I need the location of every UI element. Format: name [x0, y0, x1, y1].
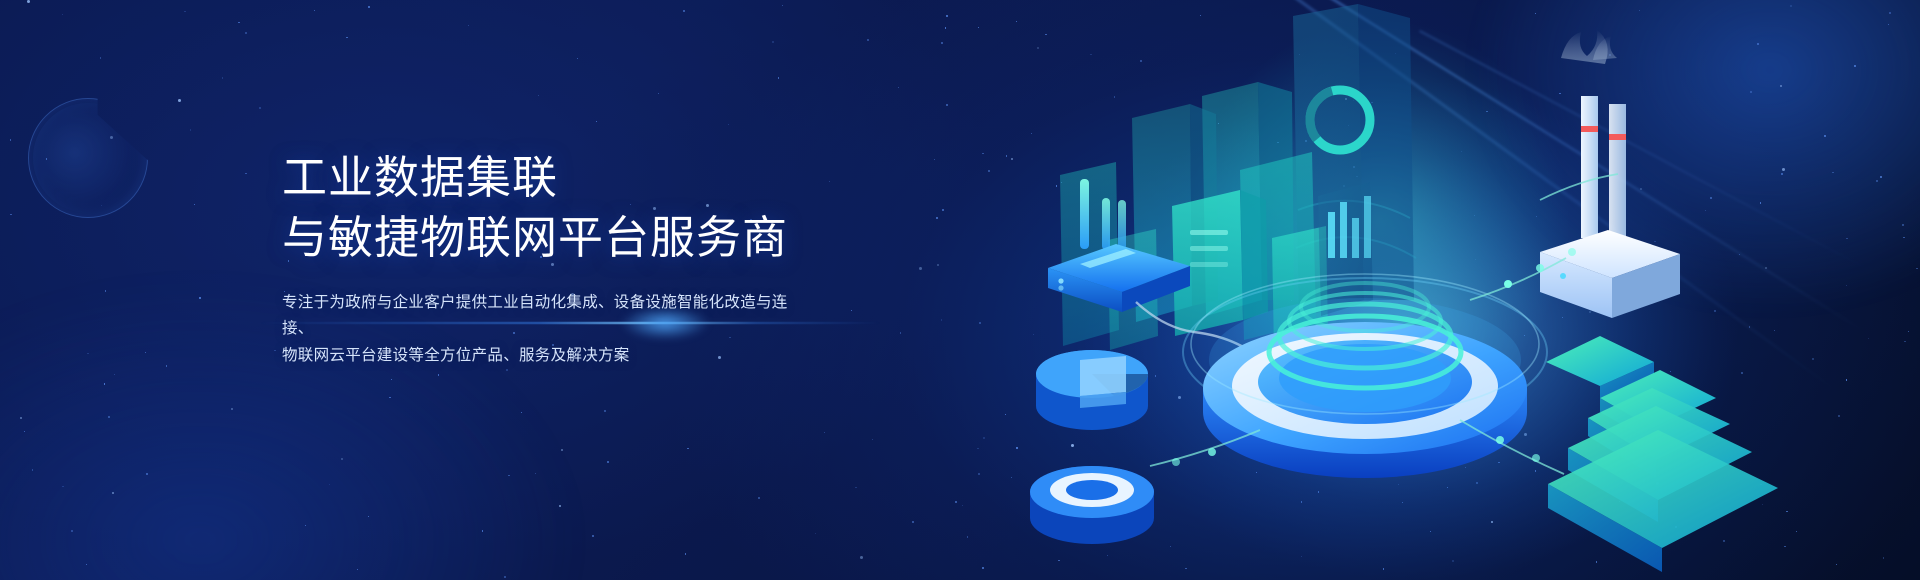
- hero-banner: 工业数据集联 与敏捷物联网平台服务商 专注于为政府与企业客户提供工业自动化集成、…: [0, 0, 1920, 580]
- iot-illustration: [940, 0, 1920, 580]
- hero-copy: 工业数据集联 与敏捷物联网平台服务商 专注于为政府与企业客户提供工业自动化集成、…: [282, 148, 922, 370]
- headline-line-1: 工业数据集联: [282, 148, 922, 208]
- ring-pedestal: [1030, 466, 1154, 544]
- headline-line-2: 与敏捷物联网平台服务商: [282, 208, 922, 268]
- subtitle-line-1: 专注于为政府与企业客户提供工业自动化集成、设备设施智能化改造与连接、: [282, 290, 807, 343]
- hero-subtitle: 专注于为政府与企业客户提供工业自动化集成、设备设施智能化改造与连接、 物联网云平…: [282, 290, 807, 370]
- subtitle-line-2: 物联网云平台建设等全方位产品、服务及解决方案: [282, 343, 807, 370]
- page-title: 工业数据集联 与敏捷物联网平台服务商: [282, 148, 922, 268]
- cylinder-segment: [1036, 350, 1148, 430]
